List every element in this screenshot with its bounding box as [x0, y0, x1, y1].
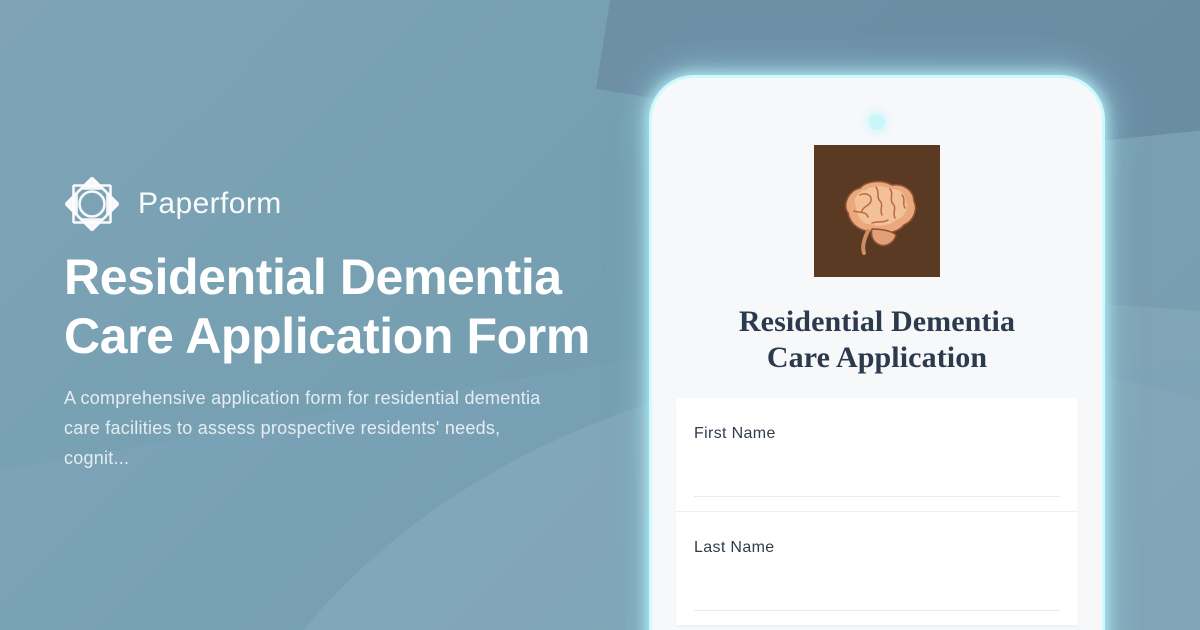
form-title-line-2: Care Application	[767, 341, 987, 374]
brand-wordmark: Paperform	[138, 189, 282, 219]
field-input-underline[interactable]	[694, 496, 1060, 497]
form-fields-list: First Name Last Name	[676, 398, 1078, 626]
page-title-line-1: Residential Dementia	[64, 249, 562, 305]
paperform-star-logo-icon	[64, 176, 120, 232]
brand-lockup: Paperform	[64, 176, 282, 232]
form-title-line-1: Residential Dementia	[739, 305, 1015, 338]
phone-mockup: Residential Dementia Care Application Fi…	[652, 78, 1102, 630]
form-title: Residential Dementia Care Application	[676, 304, 1078, 376]
brain-illustration-icon	[814, 145, 940, 277]
page-title-line-2: Care Application Form	[64, 308, 590, 364]
page-description: A comprehensive application form for res…	[64, 383, 564, 473]
field-label: Last Name	[694, 538, 1060, 558]
field-input-underline[interactable]	[694, 610, 1060, 611]
page-description-line-1: A comprehensive application form for res…	[64, 388, 459, 408]
page-title: Residential Dementia Care Application Fo…	[64, 248, 624, 366]
form-field-last-name[interactable]: Last Name	[676, 512, 1078, 626]
hero-column: Paperform Residential Dementia Care Appl…	[64, 0, 664, 630]
front-camera-dot-icon	[869, 114, 885, 130]
field-label: First Name	[694, 424, 1060, 444]
form-field-first-name[interactable]: First Name	[676, 398, 1078, 512]
share-card-canvas: Paperform Residential Dementia Care Appl…	[0, 0, 1200, 630]
